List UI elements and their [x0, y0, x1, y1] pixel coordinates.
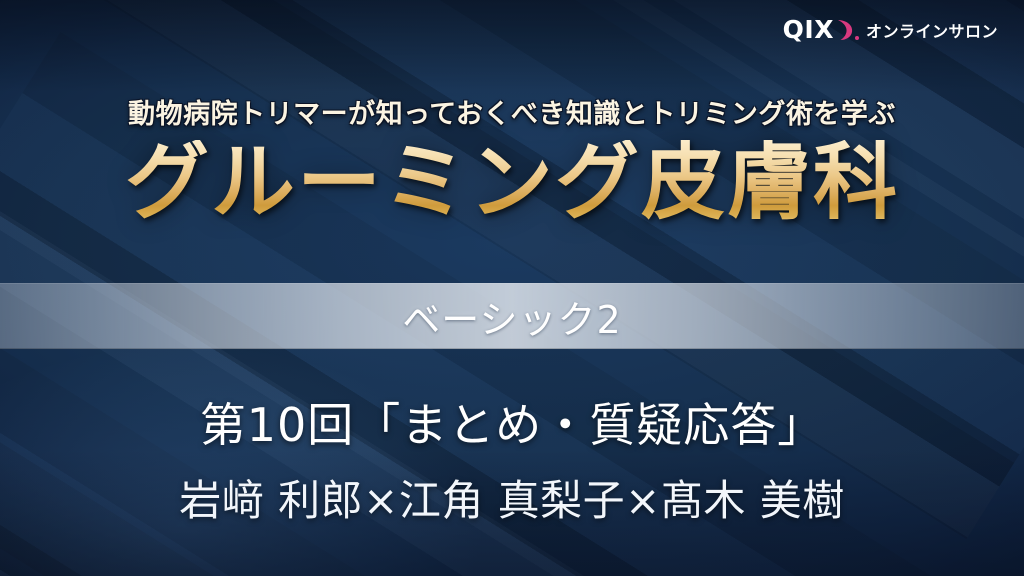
level-band: ベーシック2	[0, 283, 1024, 349]
presenter-names: 岩﨑 利郎×江角 真梨子×髙木 美樹	[0, 467, 1024, 528]
episode-title: 第10回「まとめ・質疑応答」	[0, 389, 1024, 455]
level-band-label: ベーシック2	[402, 289, 621, 344]
qix-swoosh-icon	[835, 19, 854, 41]
logo-wordmark: QIX	[783, 17, 859, 42]
page-title-text: グルーミング皮膚科	[125, 140, 899, 224]
logo-brand-text: QIX	[783, 17, 834, 42]
page-title: グルーミング皮膚科	[0, 140, 1024, 224]
title-slide: QIX オンラインサロン 動物病院トリマーが知っておくべき知識とトリミング術を学…	[0, 0, 1024, 576]
brand-logo: QIX オンラインサロン	[783, 17, 998, 42]
logo-dot-icon	[855, 36, 859, 40]
logo-tagline: オンラインサロン	[866, 18, 998, 42]
slide-kicker: 動物病院トリマーが知っておくべき知識とトリミング術を学ぶ	[0, 92, 1024, 131]
